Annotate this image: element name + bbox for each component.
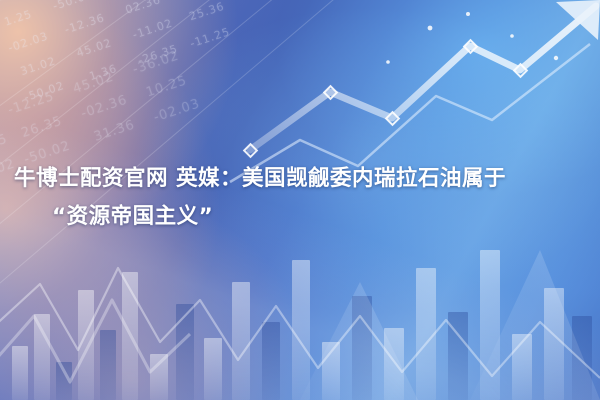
headline-line-2: “资源帝国主义” — [14, 198, 589, 236]
news-cover-image: -26.35 -11.25 45.02 4.36 1.25 -50.02 -36… — [0, 0, 600, 400]
headline-text: 牛博士配资官网 英媒：美国觊觎委内瑞拉石油属于 “资源帝国主义” — [14, 160, 589, 236]
headline-line-1: 牛博士配资官网 英媒：美国觊觎委内瑞拉石油属于 — [14, 166, 506, 191]
